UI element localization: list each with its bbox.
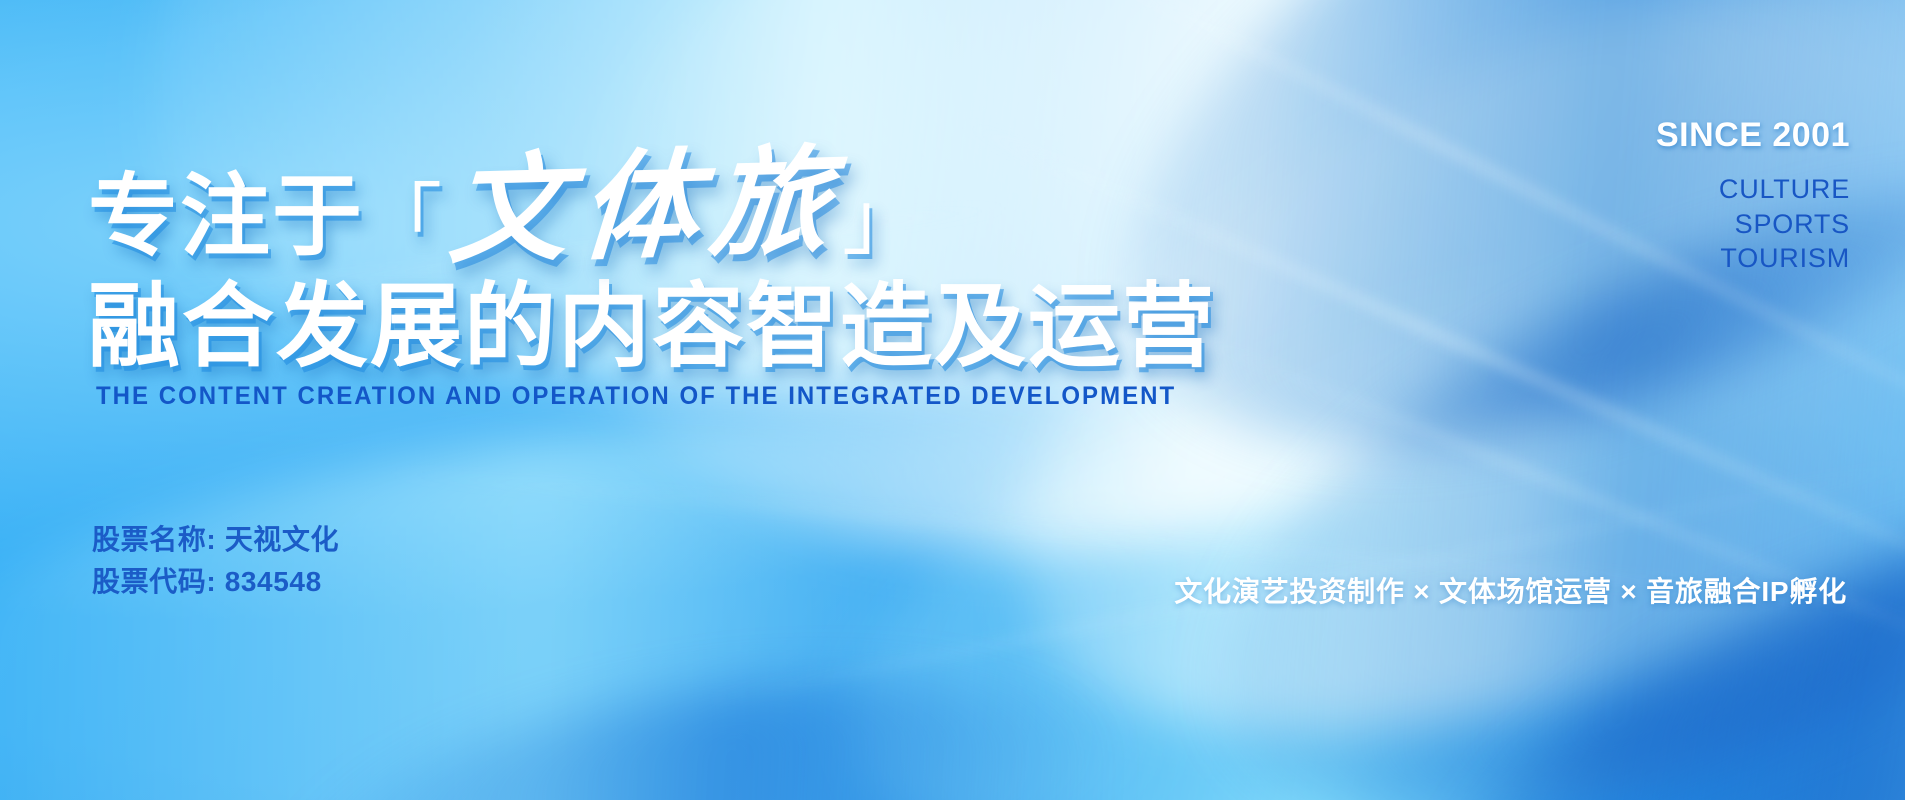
since-label: SINCE 2001 bbox=[1656, 118, 1850, 152]
keyword-culture: CULTURE bbox=[1656, 172, 1850, 207]
bracket-close: 」 bbox=[842, 177, 922, 264]
headline: 专注于「文体旅」 融合发展的内容智造及运营 bbox=[88, 140, 1216, 379]
headline-line-1: 专注于「文体旅」 bbox=[88, 140, 1216, 272]
english-subtitle: THE CONTENT CREATION AND OPERATION OF TH… bbox=[96, 382, 1176, 411]
banner-canvas: 专注于「文体旅」 融合发展的内容智造及运营 THE CONTENT CREATI… bbox=[0, 0, 1905, 800]
keyword-sports: SPORTS bbox=[1656, 207, 1850, 242]
headline-prefix: 专注于 bbox=[88, 167, 364, 268]
stock-code: 股票代码: 834548 bbox=[92, 561, 339, 604]
headline-brush-text: 文体旅 bbox=[446, 135, 845, 277]
keyword-tourism: TOURISM bbox=[1656, 241, 1850, 276]
banner-content: 专注于「文体旅」 融合发展的内容智造及运营 THE CONTENT CREATI… bbox=[0, 0, 1905, 800]
headline-line-2: 融合发展的内容智造及运营 bbox=[88, 276, 1216, 379]
stock-name: 股票名称: 天视文化 bbox=[92, 519, 339, 562]
business-tagline: 文化演艺投资制作 × 文体场馆运营 × 音旅融合IP孵化 bbox=[1174, 570, 1847, 610]
bracket-open: 「 bbox=[364, 177, 444, 264]
right-info-block: SINCE 2001 CULTURE SPORTS TOURISM bbox=[1656, 118, 1850, 276]
stock-info: 股票名称: 天视文化 股票代码: 834548 bbox=[92, 519, 339, 604]
